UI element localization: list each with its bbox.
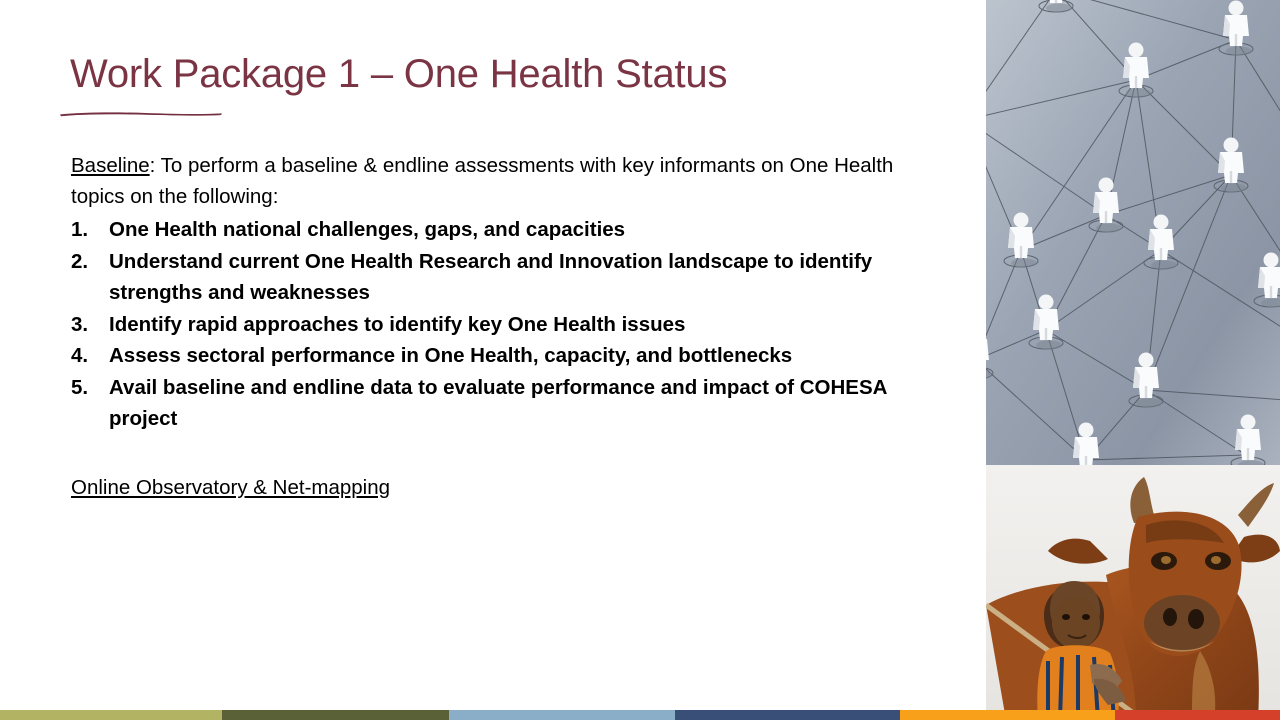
color-bar-segment <box>0 710 222 720</box>
presentation-slide: Work Package 1 – One Health Status Basel… <box>0 0 1280 720</box>
list-item-text: One Health national challenges, gaps, an… <box>109 214 931 246</box>
list-item-number: 1. <box>71 214 109 246</box>
color-bar-segment <box>222 710 449 720</box>
list-item: 3. Identify rapid approaches to identify… <box>71 309 931 341</box>
color-bar-segment <box>449 710 675 720</box>
list-item-text: Understand current One Health Research a… <box>109 246 931 309</box>
list-item-text: Avail baseline and endline data to evalu… <box>109 372 931 435</box>
social-network-figures-photo <box>986 0 1280 465</box>
list-item: 5. Avail baseline and endline data to ev… <box>71 372 931 435</box>
list-item-text: Identify rapid approaches to identify ke… <box>109 309 931 341</box>
lead-paragraph: Baseline: To perform a baseline & endlin… <box>71 150 931 212</box>
color-bar-segment <box>675 710 900 720</box>
body-content: Baseline: To perform a baseline & endlin… <box>71 150 931 500</box>
subheading: Online Observatory & Net-mapping <box>71 476 390 500</box>
list-item-number: 2. <box>71 246 109 309</box>
color-bar-segment <box>900 710 1115 720</box>
footer-color-bar <box>0 710 1280 720</box>
color-bar-segment <box>1115 710 1280 720</box>
list-item-number: 4. <box>71 340 109 372</box>
page-title: Work Package 1 – One Health Status <box>70 52 727 96</box>
list-item-number: 5. <box>71 372 109 435</box>
list-item: 4. Assess sectoral performance in One He… <box>71 340 931 372</box>
logo-strip: ILRI INTERNATIONAL LIVESTOCK RESEARCH IN… <box>0 630 1280 710</box>
list-item-number: 3. <box>71 309 109 341</box>
network-graphic <box>986 0 1280 465</box>
title-block: Work Package 1 – One Health Status <box>70 52 727 96</box>
list-item-text: Assess sectoral performance in One Healt… <box>109 340 931 372</box>
lead-rest: : To perform a baseline & endline assess… <box>71 154 893 208</box>
list-item: 2. Understand current One Health Researc… <box>71 246 931 309</box>
objectives-list: 1. One Health national challenges, gaps,… <box>71 214 931 435</box>
title-underline-stroke <box>58 110 224 117</box>
lead-label: Baseline <box>71 154 150 177</box>
list-item: 1. One Health national challenges, gaps,… <box>71 214 931 246</box>
subheading-wrap: Online Observatory & Net-mapping <box>71 435 931 500</box>
